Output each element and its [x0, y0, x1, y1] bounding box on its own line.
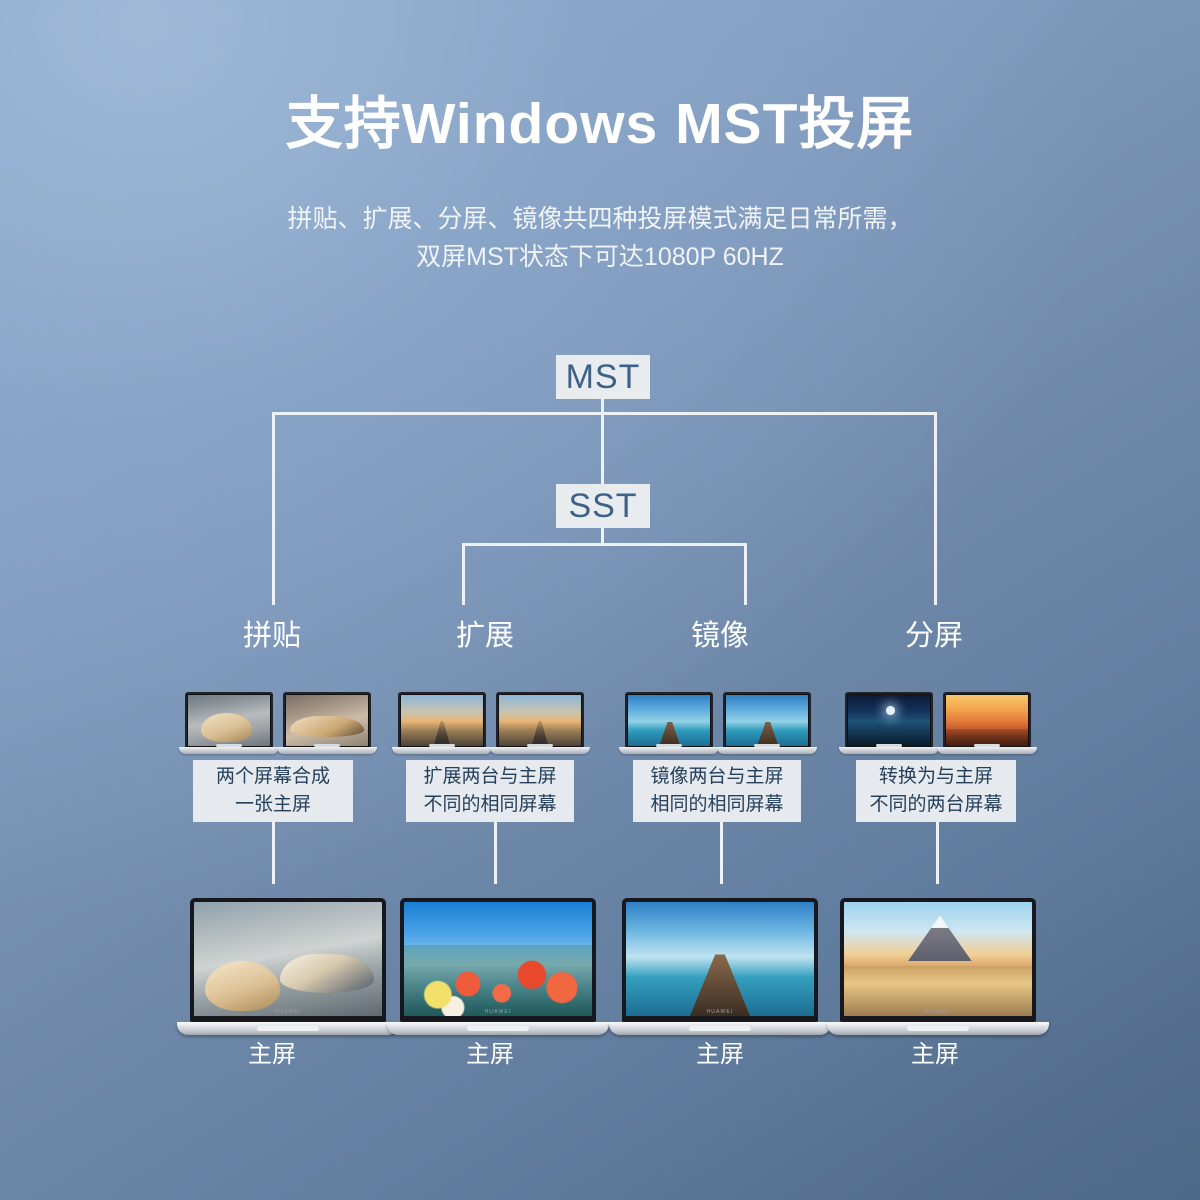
mini-laptop-notch [527, 744, 553, 747]
tree-line-caption-to-main-mirror [720, 822, 723, 884]
mini-laptop-pair-tile [185, 692, 371, 754]
tree-line-sst-bus [462, 543, 747, 546]
mode-caption-split: 转换为与主屏 不同的两台屏幕 [856, 760, 1016, 822]
wallpaper-moonlit-night [848, 695, 930, 746]
page-title: 支持Windows MST投屏 [0, 92, 1200, 158]
page-subtitle: 拼贴、扩展、分屏、镜像共四种投屏模式满足日常所需， 双屏MST状态下可达1080… [0, 200, 1200, 276]
tree-line-caption-to-main-tile [272, 822, 275, 884]
mode-label-mirror: 镜像 [620, 622, 820, 651]
tree-line-drop-mirror [744, 543, 747, 605]
mode-label-tile: 拼贴 [172, 622, 372, 651]
mini-laptop-base [392, 747, 492, 754]
caption-line-2: 不同的两台屏幕 [869, 791, 1002, 819]
wallpaper-desert-road [499, 695, 581, 746]
mini-laptop [943, 692, 1031, 754]
main-laptop-screen: HUAWEI [622, 898, 818, 1022]
mode-caption-tile: 两个屏幕合成 一张主屏 [193, 760, 353, 822]
mini-laptop-screen [943, 692, 1031, 747]
main-laptop-base [177, 1022, 399, 1035]
tree-line-drop-split [934, 412, 937, 605]
mini-laptop-pair-mirror [625, 692, 811, 754]
mini-laptop-notch [974, 744, 1000, 747]
wallpaper-mount-fuji [844, 902, 1032, 1016]
tree-line-caption-to-main-split [936, 822, 939, 884]
main-laptop-mirror: HUAWEI [622, 898, 818, 1035]
wallpaper-tulips [404, 902, 592, 1016]
main-laptop-screen: HUAWEI [400, 898, 596, 1022]
wallpaper-sea-pier [726, 695, 808, 746]
mini-laptop-pair-split [845, 692, 1031, 754]
mini-laptop [625, 692, 713, 754]
main-screen-label-mirror: 主屏 [620, 1043, 820, 1067]
main-screen-label-split: 主屏 [835, 1043, 1035, 1067]
mini-laptop-pair-extend [398, 692, 584, 754]
main-screen-label-tile: 主屏 [172, 1043, 372, 1067]
mini-laptop-screen [625, 692, 713, 747]
tree-line-drop-tile [272, 412, 275, 605]
tree-node-mst[interactable]: MST [556, 355, 650, 399]
tree-node-sst[interactable]: SST [556, 484, 650, 528]
main-screen-label-extend: 主屏 [390, 1043, 590, 1067]
brand-logo: HUAWEI [924, 1009, 951, 1015]
caption-line-2: 不同的相同屏幕 [423, 791, 556, 819]
caption-line-1: 两个屏幕合成 [216, 763, 330, 791]
main-laptop-split: HUAWEI [840, 898, 1036, 1035]
mini-laptop-base [839, 747, 939, 754]
main-laptop-base [609, 1022, 831, 1035]
mini-laptop-base [490, 747, 590, 754]
mini-laptop-screen [845, 692, 933, 747]
mini-laptop-notch [314, 744, 340, 747]
mode-label-split: 分屏 [834, 622, 1034, 651]
mini-laptop-notch [429, 744, 455, 747]
subtitle-line-2: 双屏MST状态下可达1080P 60HZ [0, 238, 1200, 276]
tree-line-sst-stem [601, 528, 604, 544]
mode-caption-mirror: 镜像两台与主屏 相同的相同屏幕 [633, 760, 801, 822]
mini-laptop-screen [496, 692, 584, 747]
wallpaper-desert-road [401, 695, 483, 746]
main-laptop-tile: HUAWEI [190, 898, 386, 1035]
main-laptop-extend: HUAWEI [400, 898, 596, 1035]
wallpaper-boat-left [188, 695, 270, 746]
wallpaper-sea-pier [628, 695, 710, 746]
brand-logo: HUAWEI [484, 1009, 511, 1015]
caption-line-2: 相同的相同屏幕 [650, 791, 783, 819]
main-laptop-screen: HUAWEI [840, 898, 1036, 1022]
mini-laptop [185, 692, 273, 754]
tree-line-top-bus [272, 412, 937, 415]
brand-logo: HUAWEI [706, 1009, 733, 1015]
brand-logo: HUAWEI [274, 1009, 301, 1015]
mini-laptop-screen [723, 692, 811, 747]
wallpaper-harbor-boats [194, 902, 382, 1016]
mode-label-extend: 扩展 [385, 622, 585, 651]
mini-laptop-notch [216, 744, 242, 747]
wallpaper-sunset [946, 695, 1028, 746]
mini-laptop-base [179, 747, 279, 754]
tree-line-drop-extend [462, 543, 465, 605]
mini-laptop [283, 692, 371, 754]
caption-line-1: 转换为与主屏 [879, 763, 993, 791]
mini-laptop [845, 692, 933, 754]
mini-laptop-base [717, 747, 817, 754]
mini-laptop-notch [876, 744, 902, 747]
main-laptop-base [387, 1022, 609, 1035]
mini-laptop-base [277, 747, 377, 754]
mini-laptop-notch [754, 744, 780, 747]
main-laptop-screen: HUAWEI [190, 898, 386, 1022]
main-laptop-base [827, 1022, 1049, 1035]
mini-laptop-base [937, 747, 1037, 754]
tree-line-drop-sst [601, 412, 604, 486]
tree-line-caption-to-main-extend [494, 822, 497, 884]
caption-line-1: 扩展两台与主屏 [423, 763, 556, 791]
poster-canvas: 支持Windows MST投屏 拼贴、扩展、分屏、镜像共四种投屏模式满足日常所需… [0, 0, 1200, 1200]
mini-laptop-base [619, 747, 719, 754]
wallpaper-boat-right [286, 695, 368, 746]
mini-laptop-screen [185, 692, 273, 747]
mini-laptop [496, 692, 584, 754]
subtitle-line-1: 拼贴、扩展、分屏、镜像共四种投屏模式满足日常所需， [0, 200, 1200, 238]
mode-caption-extend: 扩展两台与主屏 不同的相同屏幕 [406, 760, 574, 822]
mini-laptop [398, 692, 486, 754]
mini-laptop-screen [398, 692, 486, 747]
caption-line-1: 镜像两台与主屏 [650, 763, 783, 791]
mini-laptop-notch [656, 744, 682, 747]
mini-laptop [723, 692, 811, 754]
caption-line-2: 一张主屏 [235, 791, 311, 819]
mini-laptop-screen [283, 692, 371, 747]
wallpaper-sea-pier [626, 902, 814, 1016]
